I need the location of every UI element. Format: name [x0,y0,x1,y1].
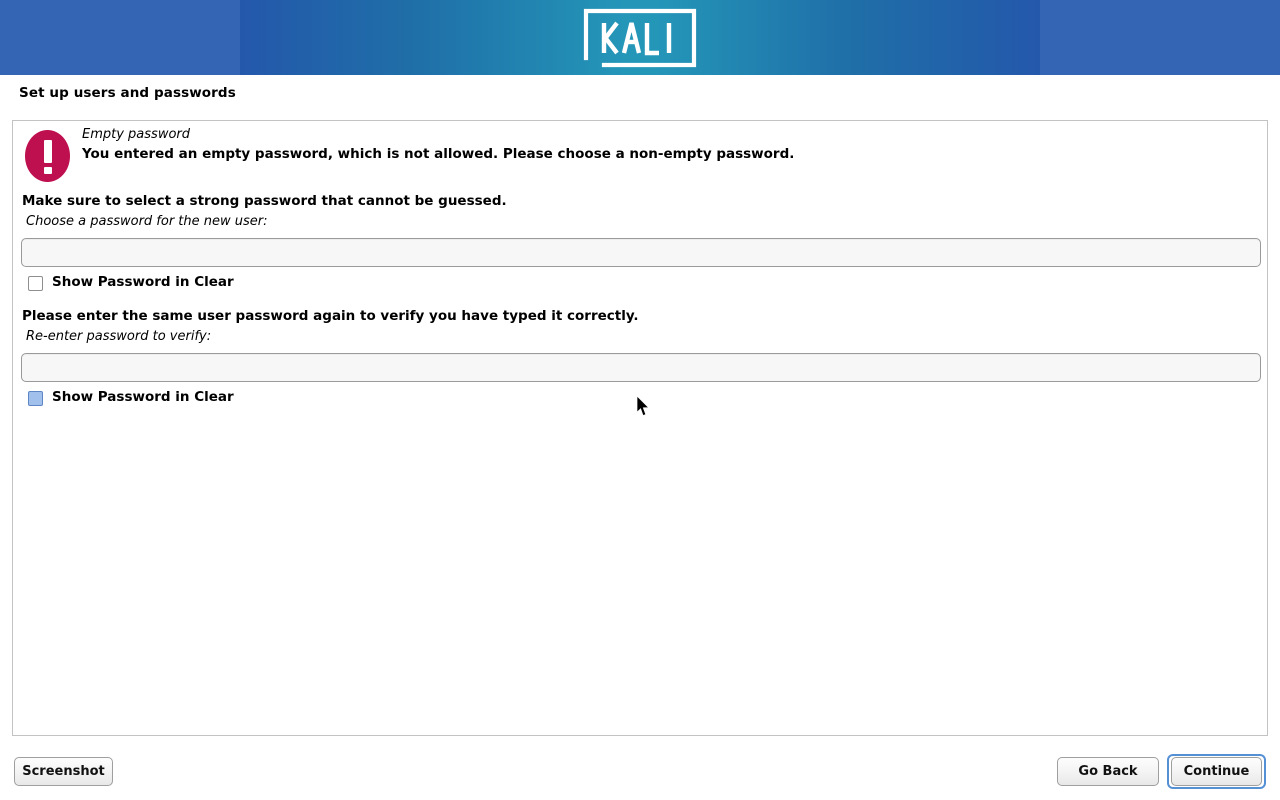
page-title: Set up users and passwords [19,85,236,101]
content-panel: Empty password You entered an empty pass… [12,120,1268,736]
password-section-heading: Make sure to select a strong password th… [22,193,507,209]
alert-message: You entered an empty password, which is … [82,146,794,162]
verify-password-input[interactable] [21,353,1261,382]
verify-section-heading: Please enter the same user password agai… [22,308,639,324]
installer-banner [0,0,1280,75]
exclamation-stem [44,140,52,163]
show-password-label-2: Show Password in Clear [52,389,234,405]
show-password-checkbox-1[interactable] [28,276,43,291]
screenshot-button[interactable]: Screenshot [14,757,113,786]
password-field-label: Choose a password for the new user: [26,214,268,229]
continue-button[interactable]: Continue [1171,757,1262,786]
show-password-label-1: Show Password in Clear [52,274,234,290]
alert-banner: Empty password You entered an empty pass… [13,121,1267,187]
show-password-checkbox-2[interactable] [28,391,43,406]
continue-button-focus-ring: Continue [1167,754,1266,789]
error-exclamation-icon [25,130,70,182]
exclamation-dot [44,167,52,174]
verify-field-label: Re-enter password to verify: [26,329,211,344]
alert-title: Empty password [82,127,190,142]
go-back-button[interactable]: Go Back [1057,757,1159,786]
password-input[interactable] [21,238,1261,267]
kali-logo-box-icon [583,8,697,68]
